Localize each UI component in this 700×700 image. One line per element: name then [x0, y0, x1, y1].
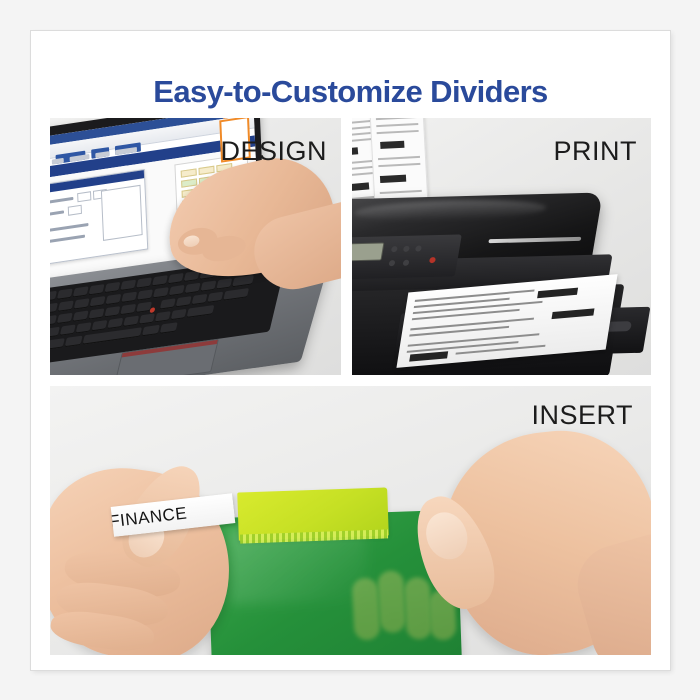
keyboard-key	[50, 338, 65, 350]
keyboard-key	[160, 298, 176, 309]
keyboard-key	[104, 306, 120, 317]
keyboard-key	[153, 287, 169, 298]
keyboard-key	[120, 280, 136, 291]
keyboard-key	[223, 288, 249, 301]
keyboard-key	[168, 273, 184, 284]
dialog-field-label	[50, 197, 73, 205]
printed-block	[409, 351, 448, 361]
panel-label-design: DESIGN	[220, 136, 327, 167]
printer-lcd-screen	[352, 242, 384, 261]
panel-label-print: PRINT	[554, 136, 638, 167]
label-strip-text: FINANCE	[111, 503, 188, 532]
panel-label-insert: INSERT	[531, 400, 633, 431]
keyboard-key	[88, 284, 104, 295]
keyboard-key	[104, 282, 120, 293]
keyboard-key	[58, 300, 74, 311]
product-feature-graphic: Easy-to-Customize Dividers	[0, 0, 700, 700]
scanner-slit	[488, 237, 581, 243]
keyboard-key	[142, 325, 160, 337]
page-title: Easy-to-Customize Dividers	[31, 74, 670, 110]
ghost-finger	[377, 570, 406, 633]
dialog-option	[50, 235, 85, 244]
keyboard-key	[200, 280, 216, 291]
printer-control-panel[interactable]	[352, 234, 462, 279]
printed-block	[352, 182, 369, 192]
printer-button[interactable]	[391, 246, 398, 252]
keyboard-key	[73, 286, 89, 297]
printer-button[interactable]	[388, 260, 395, 266]
keyboard-key	[216, 278, 232, 289]
white-card: Easy-to-Customize Dividers	[31, 31, 670, 670]
keyboard-key	[107, 318, 123, 329]
printer-button[interactable]	[403, 246, 410, 252]
panel-insert: FINANCE INSERT	[50, 386, 651, 655]
trackpoint-nub	[149, 307, 155, 313]
printed-block	[380, 141, 404, 149]
keyboard-key	[74, 298, 90, 309]
design-dialog	[50, 169, 148, 267]
keyboard-key	[50, 303, 58, 315]
keyboard-key	[137, 289, 153, 300]
keyboard-key	[121, 292, 137, 303]
panel-print: PRINT	[352, 118, 651, 375]
keyboard-key	[152, 275, 168, 286]
keyboard-key	[57, 313, 73, 324]
keyboard-key	[50, 315, 57, 327]
keyboard-key	[50, 291, 57, 302]
printer-power-button[interactable]	[429, 257, 436, 263]
printer-button[interactable]	[415, 245, 422, 251]
keyboard-key	[105, 294, 121, 305]
printed-block	[380, 175, 406, 183]
keyboard-key	[65, 336, 83, 348]
keyboard-key	[171, 309, 187, 320]
forearm	[568, 525, 651, 655]
keyboard-key	[76, 322, 92, 333]
printed-block	[537, 288, 578, 299]
keyboard-key	[60, 324, 76, 335]
thumbnail	[419, 506, 474, 565]
keyboard-key	[207, 292, 223, 303]
keyboard-key	[88, 308, 104, 319]
printer-button[interactable]	[403, 260, 410, 266]
keyboard-key	[232, 275, 254, 287]
dialog-input	[68, 205, 82, 216]
printed-block	[352, 147, 358, 157]
keyboard-key	[89, 296, 105, 307]
ghost-finger	[351, 577, 380, 640]
printed-block	[552, 308, 595, 319]
keyboard-key	[50, 327, 60, 340]
dialog-field-label	[50, 210, 64, 217]
dialog-preview-box	[101, 185, 143, 241]
keyboard-key	[91, 320, 107, 331]
keyboard-key	[120, 304, 136, 315]
keyboard-key	[73, 311, 89, 322]
dialog-input	[77, 191, 91, 202]
keyboard-key	[123, 316, 139, 327]
keyboard-key	[136, 277, 152, 288]
lid-highlight	[353, 198, 548, 223]
keyboard-key	[186, 305, 214, 318]
keyboard-key	[57, 289, 73, 300]
keyboard-key	[139, 313, 155, 324]
keyboard-key	[169, 285, 185, 296]
template-cell	[181, 168, 197, 177]
keyboard-key	[176, 296, 192, 307]
keyboard-key	[155, 311, 171, 322]
keyboard-key	[160, 322, 178, 334]
panel-design: DESIGN	[50, 118, 341, 375]
keyboard-key	[184, 283, 200, 294]
keyboard-key	[191, 294, 207, 305]
dialog-option	[50, 223, 89, 233]
